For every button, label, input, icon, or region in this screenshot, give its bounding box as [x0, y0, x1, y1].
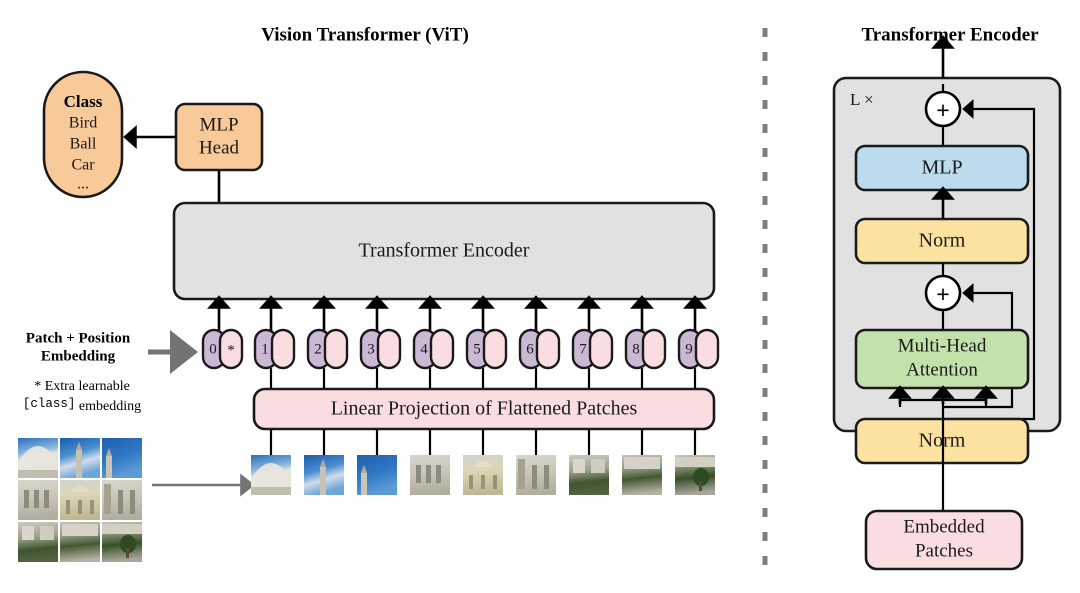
token-4: 4	[414, 330, 453, 368]
token-7-number: 7	[579, 341, 587, 357]
footnote-line2: [class] embedding	[23, 397, 141, 414]
mlp-head-label-line1: MLP	[199, 114, 238, 135]
token-6-number: 6	[526, 341, 534, 357]
patch-strip-item-3	[357, 455, 397, 495]
source-patch-r3c1	[18, 522, 58, 562]
embedded-patches-label-line1: Embedded	[903, 516, 985, 537]
token-7: 7	[573, 330, 612, 368]
source-patch-r2c3	[102, 480, 142, 520]
token-0-class: 0 *	[203, 330, 242, 368]
right-panel-title: Transformer Encoder	[861, 24, 1039, 45]
patch-strip-item-2	[304, 455, 344, 495]
token-4-patch-embedding	[431, 330, 453, 368]
patch-strip-item-8	[622, 455, 662, 495]
source-patch-r2c1	[18, 480, 58, 520]
transformer-encoder-label: Transformer Encoder	[359, 240, 530, 262]
vit-architecture-diagram: Vision Transformer (ViT) Transformer Enc…	[0, 0, 1080, 593]
class-item-ball: Ball	[70, 136, 97, 153]
mlp-head-label-line2: Head	[199, 137, 240, 158]
token-7-patch-embedding	[590, 330, 612, 368]
token-3-number: 3	[367, 341, 375, 357]
patch-position-label-line1: Patch + Position	[26, 330, 131, 346]
multi-head-attention-label-line2: Attention	[906, 359, 978, 380]
token-1-patch-embedding	[272, 330, 294, 368]
projection-to-token-connectors	[271, 368, 695, 389]
token-8-number: 8	[632, 341, 640, 357]
footnote-line1: * Extra learnable	[34, 379, 130, 394]
token-1-number: 1	[261, 341, 269, 357]
patch-strip-item-5	[463, 455, 503, 495]
residual-add-top-symbol: +	[936, 97, 949, 123]
multi-head-attention-label-line1: Multi-Head	[898, 335, 987, 356]
source-patch-r3c3	[102, 522, 142, 562]
source-patch-r1c3	[102, 438, 142, 478]
token-1: 1	[255, 330, 294, 368]
token-8-patch-embedding	[643, 330, 665, 368]
token-9-number: 9	[685, 341, 693, 357]
class-box-header: Class	[64, 92, 103, 111]
token-2-patch-embedding	[325, 330, 347, 368]
norm-top-label: Norm	[919, 230, 966, 252]
class-item-car: Car	[71, 157, 95, 174]
patch-strip-item-1	[251, 455, 291, 495]
token-5-patch-embedding	[484, 330, 506, 368]
embedded-patches-label-line2: Patches	[915, 540, 973, 561]
diagram-svg: Vision Transformer (ViT) Transformer Enc…	[0, 0, 1080, 593]
linear-projection-label: Linear Projection of Flattened Patches	[331, 398, 638, 420]
patch-strip-item-7	[569, 455, 609, 495]
token-0-star: *	[227, 342, 235, 358]
mlp-block-label: MLP	[921, 157, 962, 179]
patch-strip	[251, 455, 715, 495]
token-to-encoder-arrows	[219, 302, 695, 331]
left-panel-title: Vision Transformer (ViT)	[261, 24, 469, 45]
token-2-number: 2	[314, 341, 322, 357]
token-4-number: 4	[420, 341, 428, 357]
source-patch-r3c2	[60, 522, 100, 562]
class-item-bird: Bird	[69, 115, 97, 132]
footnote-embedding-word: embedding	[75, 399, 141, 414]
source-patch-r1c1	[18, 438, 58, 478]
token-5-number: 5	[473, 341, 481, 357]
token-3-patch-embedding	[378, 330, 400, 368]
source-patch-r1c2	[60, 438, 100, 478]
encoder-repeat-label: L ×	[850, 90, 874, 109]
patch-position-label-line2: Embedding	[41, 348, 116, 364]
token-6: 6	[520, 330, 559, 368]
token-9-patch-embedding	[696, 330, 718, 368]
token-6-patch-embedding	[537, 330, 559, 368]
token-9: 9	[679, 330, 718, 368]
token-5: 5	[467, 330, 506, 368]
token-0-number: 0	[209, 341, 217, 357]
token-2: 2	[308, 330, 347, 368]
token-3: 3	[361, 330, 400, 368]
patch-strip-item-6	[516, 455, 556, 495]
footnote-class-token: [class]	[23, 397, 76, 411]
source-image-grid	[18, 438, 142, 562]
residual-add-middle-symbol: +	[936, 281, 949, 307]
source-patch-r2c2	[60, 480, 100, 520]
patch-to-projection-connectors	[271, 429, 695, 455]
token-8: 8	[626, 330, 665, 368]
class-item-ellipsis: ...	[77, 176, 89, 193]
patch-strip-item-9	[675, 455, 715, 495]
patch-strip-item-4	[410, 455, 450, 495]
